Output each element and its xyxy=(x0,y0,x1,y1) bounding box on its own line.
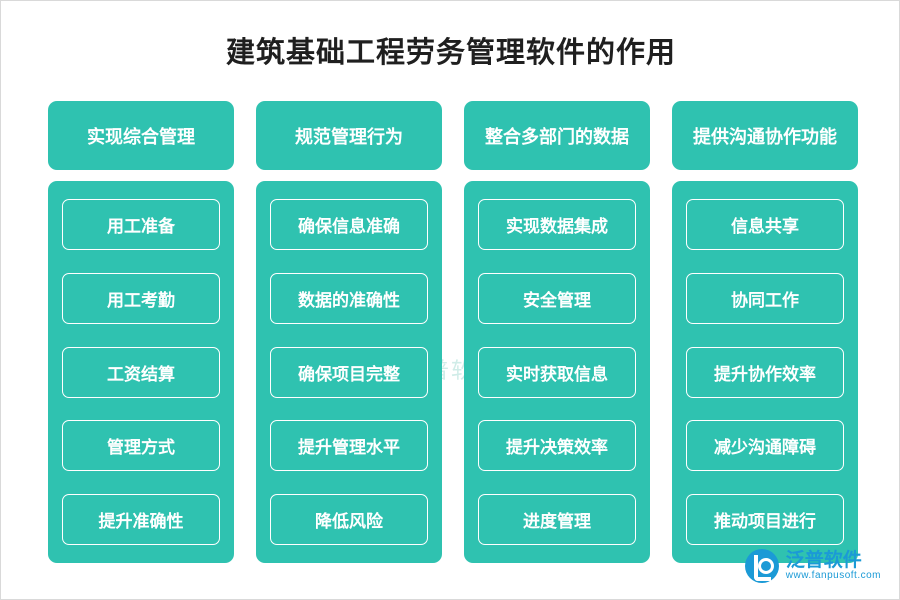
diagram-page: 建筑基础工程劳务管理软件的作用 泛普软件 实现综合管理 用工准备 用工考勤 工资… xyxy=(0,0,900,600)
column-body-4: 信息共享 协同工作 提升协作效率 减少沟通障碍 推动项目进行 xyxy=(672,181,858,563)
brand-wordmark: 泛普软件 www.fanpusoft.com xyxy=(786,551,881,581)
brand-logo: 泛普软件 www.fanpusoft.com xyxy=(745,549,881,583)
column-header-2: 规范管理行为 xyxy=(256,101,442,170)
column-group-2: 规范管理行为 确保信息准确 数据的准确性 确保项目完整 提升管理水平 降低风险 xyxy=(256,101,442,563)
columns-container: 实现综合管理 用工准备 用工考勤 工资结算 管理方式 提升准确性 规范管理行为 … xyxy=(48,101,858,563)
list-item: 提升协作效率 xyxy=(686,347,844,398)
list-item: 信息共享 xyxy=(686,199,844,250)
list-item: 实时获取信息 xyxy=(478,347,636,398)
list-item: 管理方式 xyxy=(62,420,220,471)
column-body-3: 实现数据集成 安全管理 实时获取信息 提升决策效率 进度管理 xyxy=(464,181,650,563)
column-header-1: 实现综合管理 xyxy=(48,101,234,170)
list-item: 降低风险 xyxy=(270,494,428,545)
list-item: 用工准备 xyxy=(62,199,220,250)
list-item: 用工考勤 xyxy=(62,273,220,324)
list-item: 协同工作 xyxy=(686,273,844,324)
list-item: 提升准确性 xyxy=(62,494,220,545)
column-group-1: 实现综合管理 用工准备 用工考勤 工资结算 管理方式 提升准确性 xyxy=(48,101,234,563)
list-item: 确保信息准确 xyxy=(270,199,428,250)
column-header-4: 提供沟通协作功能 xyxy=(672,101,858,170)
list-item: 提升决策效率 xyxy=(478,420,636,471)
column-group-3: 整合多部门的数据 实现数据集成 安全管理 实时获取信息 提升决策效率 进度管理 xyxy=(464,101,650,563)
list-item: 推动项目进行 xyxy=(686,494,844,545)
column-body-2: 确保信息准确 数据的准确性 确保项目完整 提升管理水平 降低风险 xyxy=(256,181,442,563)
list-item: 实现数据集成 xyxy=(478,199,636,250)
list-item: 提升管理水平 xyxy=(270,420,428,471)
list-item: 减少沟通障碍 xyxy=(686,420,844,471)
list-item: 确保项目完整 xyxy=(270,347,428,398)
brand-name-en: www.fanpusoft.com xyxy=(786,571,881,582)
list-item: 进度管理 xyxy=(478,494,636,545)
column-body-1: 用工准备 用工考勤 工资结算 管理方式 提升准确性 xyxy=(48,181,234,563)
list-item: 工资结算 xyxy=(62,347,220,398)
list-item: 安全管理 xyxy=(478,273,636,324)
list-item: 数据的准确性 xyxy=(270,273,428,324)
column-header-3: 整合多部门的数据 xyxy=(464,101,650,170)
page-title: 建筑基础工程劳务管理软件的作用 xyxy=(1,29,900,71)
brand-name-cn: 泛普软件 xyxy=(786,551,881,571)
column-group-4: 提供沟通协作功能 信息共享 协同工作 提升协作效率 减少沟通障碍 推动项目进行 xyxy=(672,101,858,563)
fanpu-logo-icon xyxy=(745,549,779,583)
